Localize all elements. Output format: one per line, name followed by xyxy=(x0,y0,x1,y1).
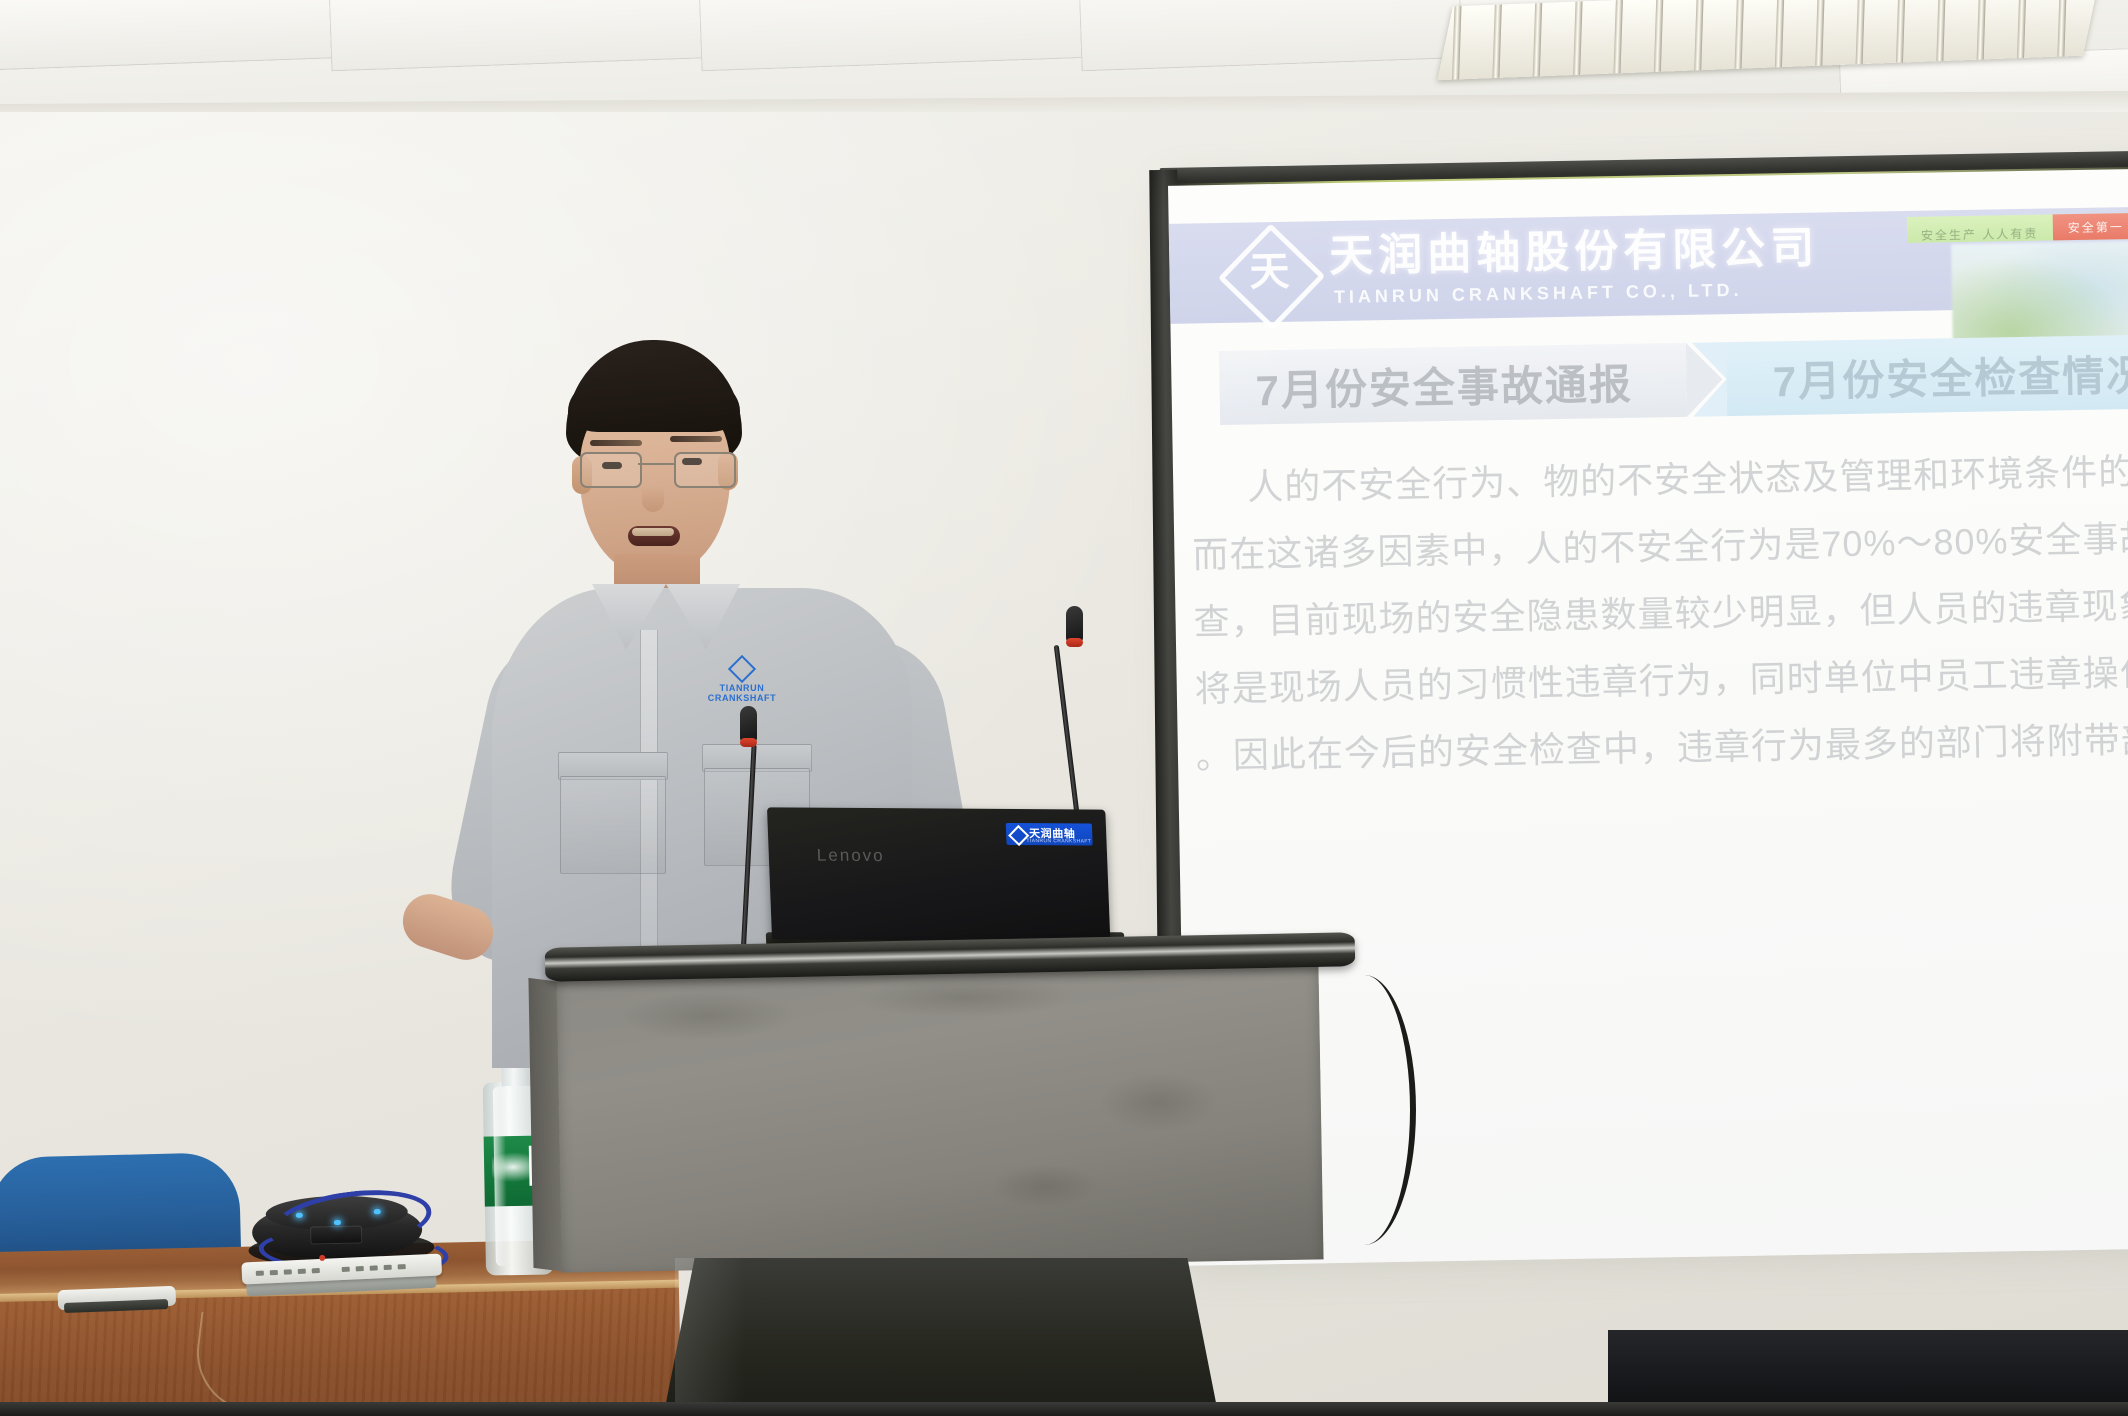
sticker-diamond-icon xyxy=(1009,825,1027,842)
laptop-brand-label: Lenovo xyxy=(816,846,885,866)
nose xyxy=(642,486,664,512)
sticker-text-en: TIANRUN CRANKSHAFT xyxy=(1026,838,1091,844)
lectern xyxy=(545,940,1355,1416)
mic-stem xyxy=(740,744,756,960)
shirt-embroidery: TIANRUN CRANKSHAFT xyxy=(694,658,790,703)
conference-room-photo: 天 天润曲轴股份有限公司 TIANRUN CRANKSHAFT CO., LTD… xyxy=(0,0,2128,1416)
embroidery-diamond-icon xyxy=(727,658,757,680)
ceiling-tile xyxy=(1079,0,1502,71)
ceiling-tile xyxy=(329,0,752,71)
slide-tab-accident-report[interactable]: 7月份安全事故通报 xyxy=(1219,343,1688,425)
laptop-lid: Lenovo 天润曲轴 TIANRUN CRANKSHAFT xyxy=(767,807,1110,941)
eyeglasses xyxy=(580,452,732,486)
slide-tab-group: 7月份安全事故通报 7月份安全检查情况 xyxy=(1219,334,2128,425)
ceiling-tile xyxy=(0,0,381,71)
logo-glyph: 天 xyxy=(1225,234,1314,310)
slide-red-badge: 安全第一 xyxy=(2053,213,2128,240)
desk-phone-handset[interactable] xyxy=(57,1286,176,1321)
ceiling-tile xyxy=(699,0,1122,71)
lectern-base xyxy=(661,1258,1221,1416)
lectern-front-panel xyxy=(556,959,1323,1272)
mic-ring xyxy=(1066,638,1083,647)
tianrun-diamond-logo-icon: 天 xyxy=(1225,234,1314,310)
hair-fringe xyxy=(568,370,740,432)
teeth xyxy=(632,528,674,536)
company-name-cn: 天润曲轴股份有限公司 xyxy=(1329,226,1820,279)
slide-body-text: 人的不安全行为、物的不安全状态及管理和环境条件的缺陷 而在这诸多因素中，人的不安… xyxy=(1191,439,2128,790)
laptop-company-sticker: 天润曲轴 TIANRUN CRANKSHAFT xyxy=(1006,823,1093,846)
lectern-base-highlight xyxy=(675,1258,745,1416)
floor xyxy=(0,1402,2128,1416)
mic-ring xyxy=(740,738,757,747)
company-name-en: TIANRUN CRANKSHAFT CO., LTD. xyxy=(1334,278,1820,307)
slide-tab-inspection-status[interactable]: 7月份安全检查情况 xyxy=(1726,334,2128,416)
green-banner-text: 安全生产 人人有责 xyxy=(1921,225,2039,244)
conference-speakerphone[interactable] xyxy=(251,1188,422,1262)
chest-pocket-left xyxy=(560,776,666,874)
